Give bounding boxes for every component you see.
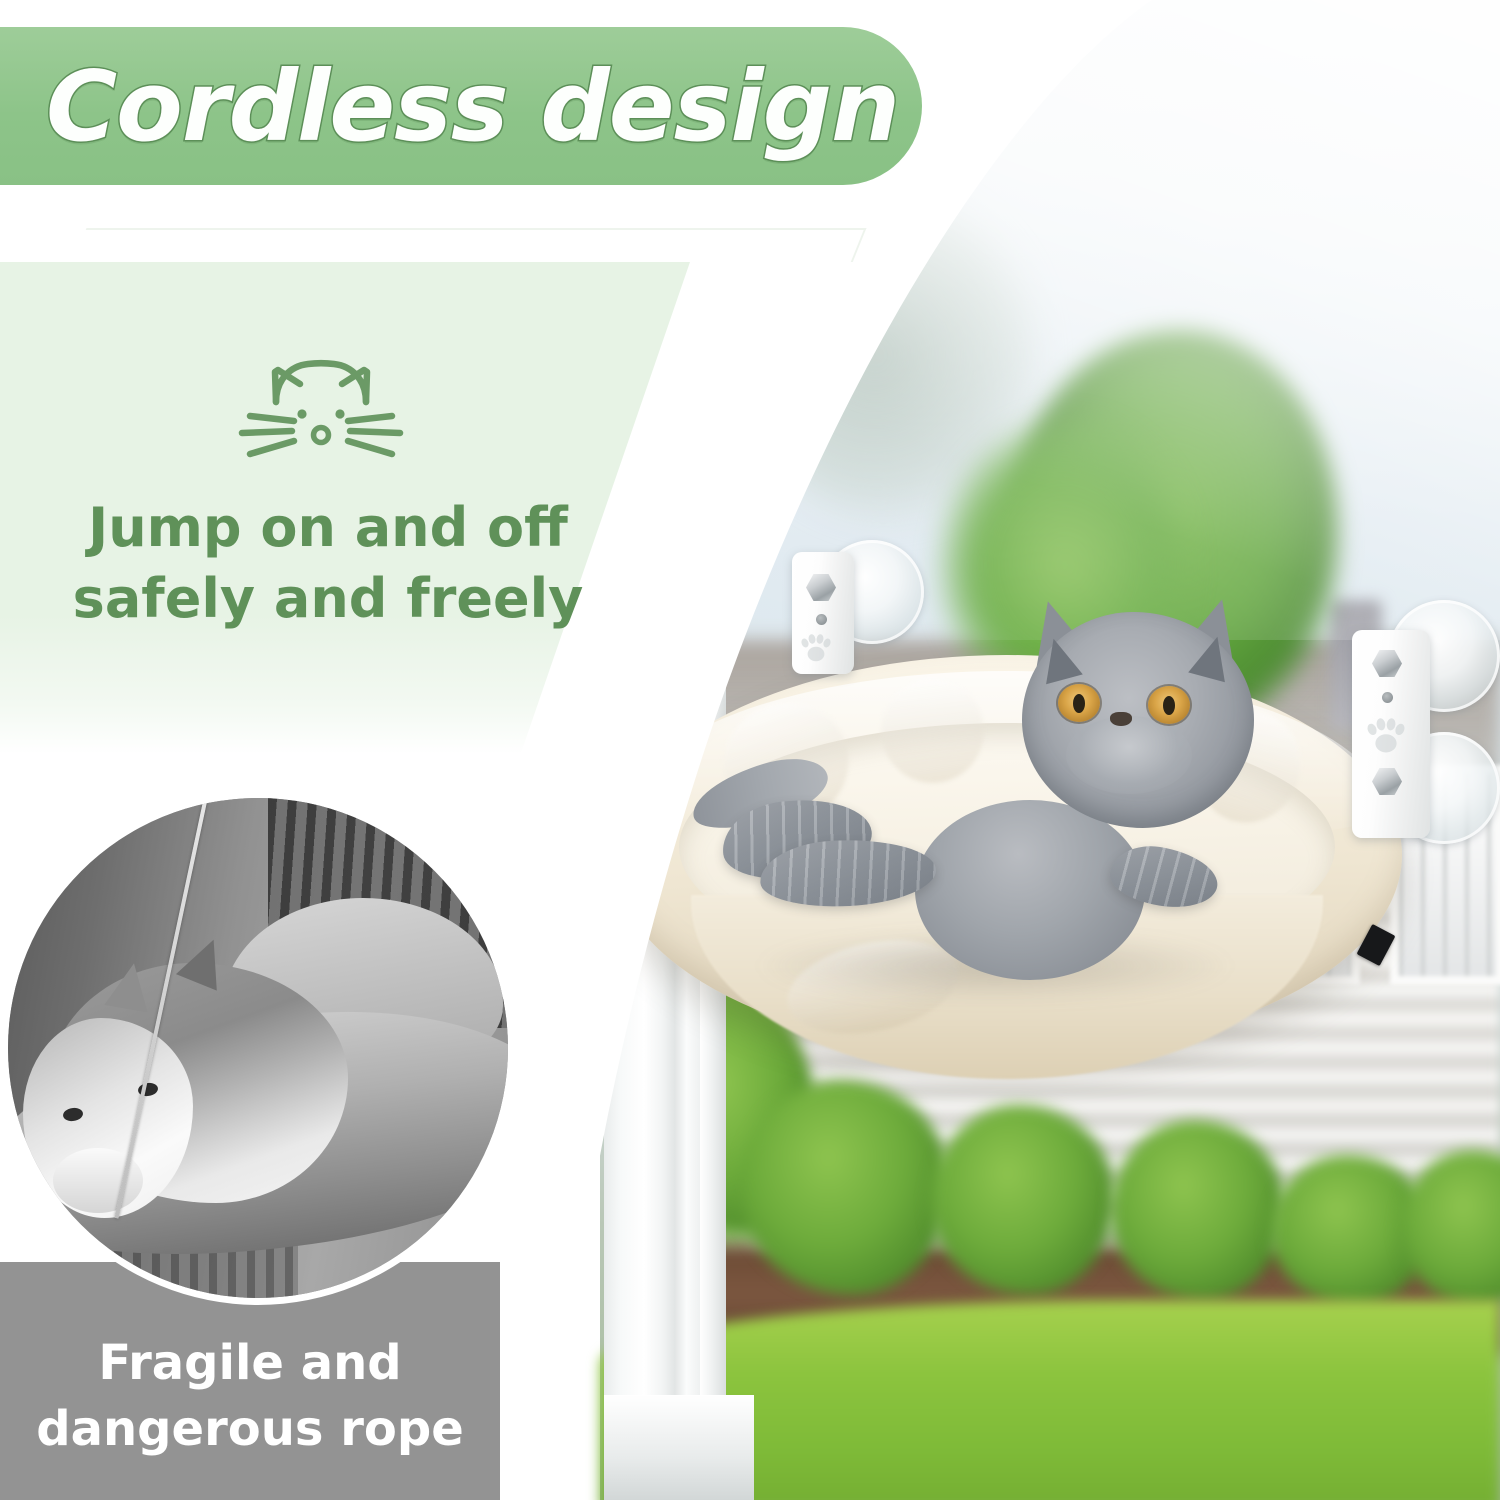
bush xyxy=(930,1105,1115,1295)
comparison-caption-line-2: dangerous rope xyxy=(0,1396,500,1462)
cat-nose xyxy=(1110,712,1132,726)
comparison-inset-photo xyxy=(8,798,508,1298)
suction-cup-mount-right xyxy=(1352,600,1500,870)
paw-print-icon xyxy=(1364,718,1408,760)
cat-muzzle xyxy=(1066,716,1192,794)
bush xyxy=(1110,1120,1285,1300)
feature-line-2: safely and freely xyxy=(48,563,608,634)
header-banner: Cordless design xyxy=(0,27,922,185)
comparison-caption: Fragile and dangerous rope xyxy=(0,1330,500,1462)
rope-hammock-photo xyxy=(8,798,508,1298)
page-title: Cordless design xyxy=(46,58,899,155)
suction-cup-mount-left xyxy=(784,540,904,675)
air-pinhole xyxy=(816,614,827,625)
product-marketing-image: Jump on and off safely and freely Cordle… xyxy=(0,0,1500,1500)
comparison-caption-line-1: Fragile and xyxy=(0,1330,500,1396)
cat-face-outline-icon xyxy=(228,342,413,477)
window-sill xyxy=(604,1395,754,1500)
feature-text: Jump on and off safely and freely xyxy=(48,492,608,635)
air-pinhole xyxy=(1382,692,1393,703)
cat-pupil-left xyxy=(1073,694,1085,713)
inset-cat-ear xyxy=(104,960,155,1013)
cat-chest xyxy=(915,800,1145,980)
paw-print-icon xyxy=(799,634,833,668)
feature-line-1: Jump on and off xyxy=(88,496,568,559)
bush xyxy=(740,1080,950,1295)
cat-pupil-right xyxy=(1163,696,1175,715)
